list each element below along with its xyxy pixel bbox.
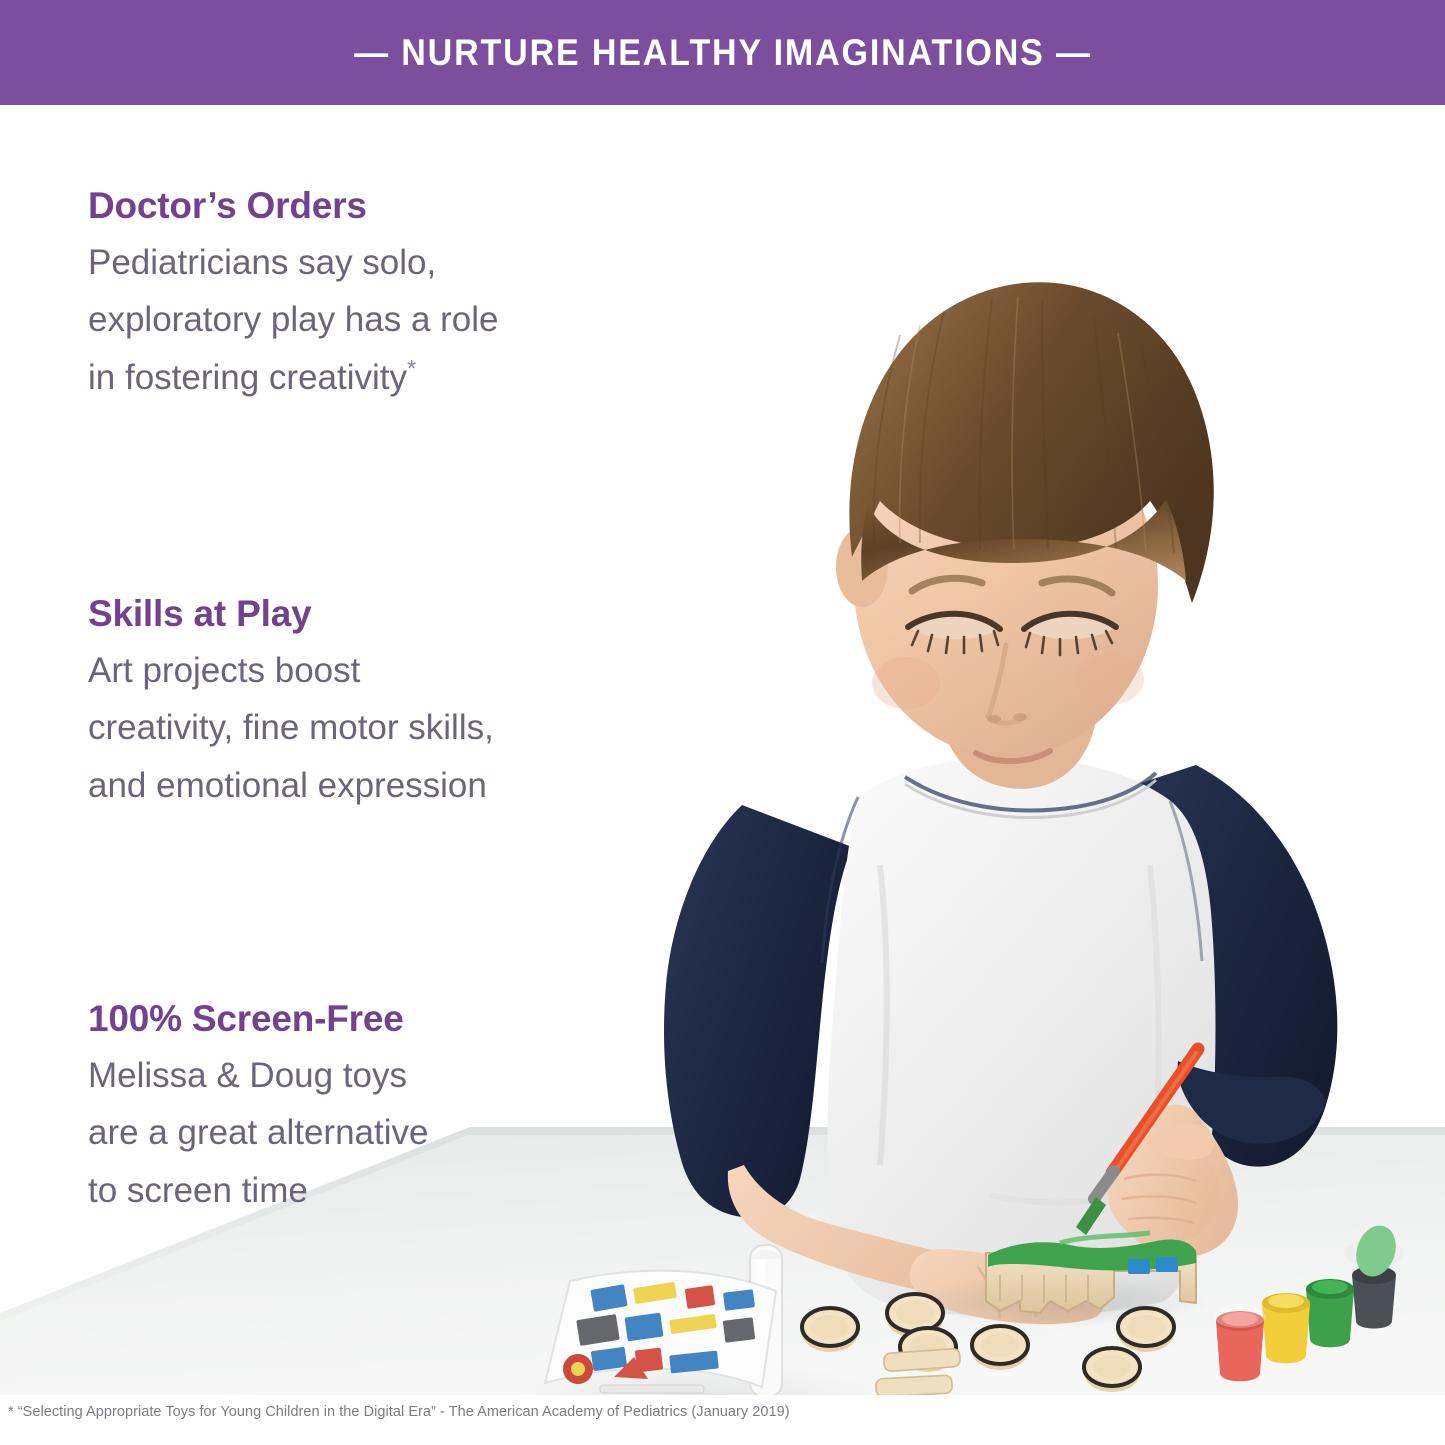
infographic-page: — NURTURE HEALTHY IMAGINATIONS — Doctor’…: [0, 0, 1445, 1445]
feature-body-line: Pediatricians say solo,: [88, 234, 688, 291]
feature-heading: Skills at Play: [88, 593, 688, 634]
feature-heading: 100% Screen-Free: [88, 998, 688, 1039]
feature-block-doctors-orders: Doctor’s Orders Pediatricians say solo, …: [88, 185, 688, 406]
footnote-marker: *: [407, 355, 416, 382]
feature-body-line: creativity, fine motor skills,: [88, 699, 688, 756]
feature-body: Art projects boost creativity, fine moto…: [88, 642, 688, 813]
feature-block-screen-free: 100% Screen-Free Melissa & Doug toys are…: [88, 998, 688, 1219]
feature-block-skills-at-play: Skills at Play Art projects boost creati…: [88, 593, 688, 814]
feature-heading: Doctor’s Orders: [88, 185, 688, 226]
feature-body-line: exploratory play has a role: [88, 291, 688, 348]
footnote-citation: * “Selecting Appropriate Toys for Young …: [8, 1404, 790, 1420]
feature-body-line: to screen time: [88, 1162, 688, 1219]
feature-body-line: Art projects boost: [88, 642, 688, 699]
feature-body-line: in fostering creativity*: [88, 349, 688, 406]
header-band: — NURTURE HEALTHY IMAGINATIONS —: [0, 0, 1445, 105]
page-title: — NURTURE HEALTHY IMAGINATIONS —: [354, 32, 1092, 74]
feature-body-text: in fostering creativity: [88, 358, 407, 397]
feature-body: Melissa & Doug toys are a great alternat…: [88, 1047, 688, 1218]
feature-body-line: and emotional expression: [88, 757, 688, 814]
feature-body-line: Melissa & Doug toys: [88, 1047, 688, 1104]
feature-body: Pediatricians say solo, exploratory play…: [88, 234, 688, 405]
feature-body-line: are a great alternative: [88, 1104, 688, 1161]
